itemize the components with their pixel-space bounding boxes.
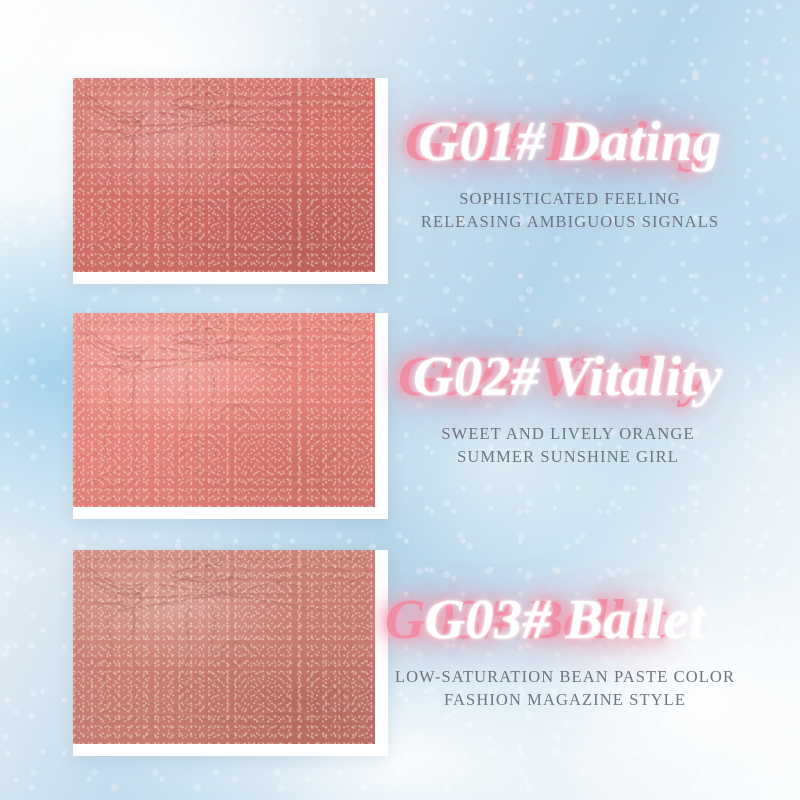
shade-title-text: G03# Ballet — [425, 589, 706, 651]
shade-title-text: G02# Vitality — [413, 346, 723, 408]
blush-pan-g01[interactable] — [73, 78, 375, 272]
description-line-1: LOW-SATURATION BEAN PASTE COLOR — [385, 666, 745, 689]
shade-text-g03: G03# Ballet G03# Ballet LOW-SATURATION B… — [385, 592, 745, 712]
description-line-2: SUMMER SUNSHINE GIRL — [398, 446, 738, 469]
shade-row-g03: G03# Ballet G03# Ballet LOW-SATURATION B… — [0, 510, 800, 750]
shade-row-g01: G01# Dating G01# Dating SOPHISTICATED FE… — [0, 38, 800, 278]
shade-description-g03: LOW-SATURATION BEAN PASTE COLOR FASHION … — [385, 666, 745, 712]
shade-title-text: G01# Dating — [419, 111, 722, 173]
ballet-curtain-emboss-icon — [73, 313, 375, 507]
swatch-card[interactable] — [73, 313, 388, 519]
shade-description-g01: SOPHISTICATED FEELING RELEASING AMBIGUOU… — [405, 188, 735, 234]
blush-pan-g03[interactable] — [73, 550, 375, 744]
shade-text-g02: G02# Vitality G02# Vitality SWEET AND LI… — [398, 349, 738, 469]
shade-row-g02: G02# Vitality G02# Vitality SWEET AND LI… — [0, 273, 800, 513]
shade-chart-poster: G01# Dating G01# Dating SOPHISTICATED FE… — [0, 0, 800, 800]
shade-title-g02: G02# Vitality G02# Vitality — [398, 349, 738, 405]
shade-description-g02: SWEET AND LIVELY ORANGE SUMMER SUNSHINE … — [398, 423, 738, 469]
description-line-1: SWEET AND LIVELY ORANGE — [398, 423, 738, 446]
shade-title-g03: G03# Ballet G03# Ballet — [385, 592, 745, 648]
ballet-curtain-emboss-icon — [73, 78, 375, 272]
swatch-card[interactable] — [73, 550, 388, 756]
blush-pan-g02[interactable] — [73, 313, 375, 507]
description-line-1: SOPHISTICATED FEELING — [405, 188, 735, 211]
ballet-curtain-emboss-icon — [73, 550, 375, 744]
shade-title-g01: G01# Dating G01# Dating — [405, 114, 735, 170]
shade-text-g01: G01# Dating G01# Dating SOPHISTICATED FE… — [405, 114, 735, 234]
description-line-2: RELEASING AMBIGUOUS SIGNALS — [405, 211, 735, 234]
swatch-card[interactable] — [73, 78, 388, 284]
description-line-2: FASHION MAGAZINE STYLE — [385, 689, 745, 712]
